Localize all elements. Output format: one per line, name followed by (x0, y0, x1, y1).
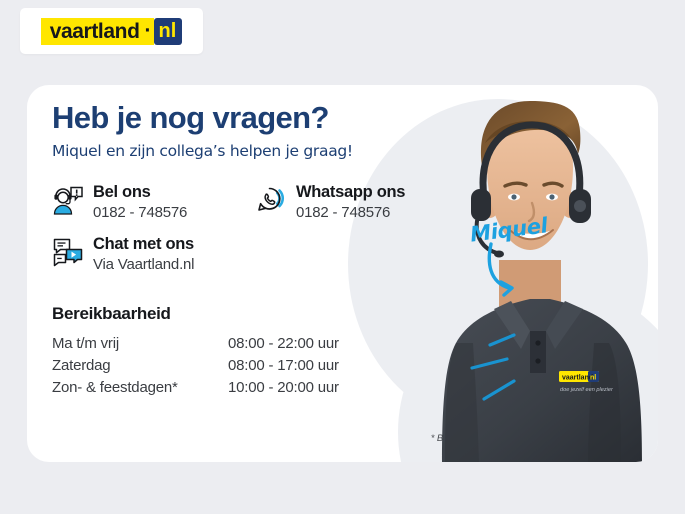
hours-day: Ma t/m vrij (52, 333, 228, 355)
table-row: Ma t/m vrij 08:00 - 22:00 uur (52, 333, 339, 355)
logo-wordmark: vaartland (41, 18, 145, 45)
headset-person-icon (52, 184, 84, 218)
whatsapp-icon (255, 184, 287, 218)
card-content: Heb je nog vragen? Miquel en zijn colleg… (52, 102, 472, 399)
contact-title-whatsapp: Whatsapp ons (296, 183, 405, 201)
miquel-arrow-icon (485, 240, 555, 306)
table-row: Zon- & feestdagen* 10:00 - 20:00 uur (52, 377, 339, 399)
contact-value-call: 0182 - 748576 (93, 204, 187, 222)
contact-card: Heb je nog vragen? Miquel en zijn colleg… (27, 85, 658, 462)
svg-text:nl: nl (590, 374, 596, 381)
opening-hours-table: Ma t/m vrij 08:00 - 22:00 uur Zaterdag 0… (52, 333, 339, 399)
contact-methods: Bel ons 0182 - 748576 Whatsapp ons 018 (52, 182, 472, 274)
hours-time: 10:00 - 20:00 uur (228, 377, 339, 399)
page-title: Heb je nog vragen? (52, 102, 472, 135)
contact-value-whatsapp: 0182 - 748576 (296, 204, 405, 222)
table-row: Zaterdag 08:00 - 17:00 uur (52, 355, 339, 377)
hours-time: 08:00 - 22:00 uur (228, 333, 339, 355)
chat-bubbles-icon (52, 236, 84, 270)
hours-time: 08:00 - 17:00 uur (228, 355, 339, 377)
vaartland-logo-badge[interactable]: vaartland · nl (20, 8, 203, 54)
hours-day: Zon- & feestdagen* (52, 377, 228, 399)
contact-text-whatsapp: Whatsapp ons 0182 - 748576 (296, 182, 405, 222)
decorative-dashes-icon (470, 333, 550, 405)
logo-tld: nl (154, 18, 183, 45)
contact-text-chat: Chat met ons Via Vaartland.nl (93, 234, 194, 274)
hours-day: Zaterdag (52, 355, 228, 377)
contact-value-chat: Via Vaartland.nl (93, 256, 194, 274)
hours-heading: Bereikbaarheid (52, 304, 472, 324)
contact-text-call: Bel ons 0182 - 748576 (93, 182, 187, 222)
svg-text:doe jezelf een plezier: doe jezelf een plezier (560, 387, 614, 393)
logo-inner: vaartland · nl (41, 18, 183, 45)
contact-title-chat: Chat met ons (93, 235, 194, 253)
logo-dot: · (145, 18, 154, 45)
contact-title-call: Bel ons (93, 183, 151, 201)
svg-text:vaartland: vaartland (562, 374, 593, 381)
contact-item-call[interactable]: Bel ons 0182 - 748576 (52, 182, 255, 222)
page-subtitle: Miquel en zijn collega’s helpen je graag… (52, 142, 472, 160)
contact-item-chat[interactable]: Chat met ons Via Vaartland.nl (52, 234, 255, 274)
